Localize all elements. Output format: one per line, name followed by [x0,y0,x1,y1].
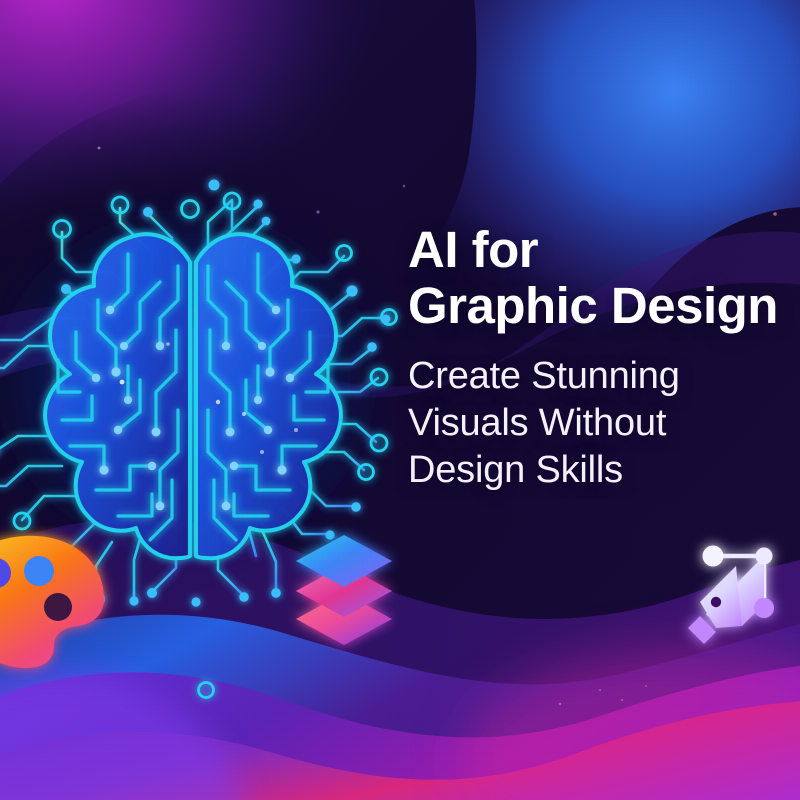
banner-canvas: AI for Graphic Design Create Stunning Vi… [0,0,800,800]
brain-speckles [120,342,298,454]
pen-anchor-bottom [754,598,774,618]
headline-line-1: AI for [408,222,800,278]
layers-middle [296,565,392,617]
subhead-line-2: Visuals Without [408,400,800,447]
brain-body [45,234,341,560]
pen-nib-body [706,558,762,626]
glow-bottom-right-pink [460,650,800,800]
wave-pink [0,700,800,800]
pen-nib-shape [700,566,742,628]
text-block: AI for Graphic Design Create Stunning Vi… [408,222,800,495]
page-title: AI for Graphic Design [408,222,800,334]
blob-bottom-left-violet [0,672,242,800]
headline-line-2: Graphic Design [408,278,800,334]
pen-anchor-corner [756,548,773,565]
brain-node-dots [92,306,294,511]
pen-tool-icon [688,546,774,645]
wave-blue-purple [0,614,800,800]
pen-nib-upper [706,556,764,626]
page-subtitle: Create Stunning Visuals Without Design S… [408,353,800,494]
subhead-line-3: Design Skills [408,447,800,494]
circuit-ring-nodes [14,193,397,698]
brain-internal-traces [58,254,328,540]
layers-icon [296,535,392,645]
palette-thumb-hole [44,593,72,621]
brain-glow [0,187,401,577]
palette-blob-blue [24,556,54,586]
circuit-traces [0,186,386,686]
pen-nib-tip [688,616,716,644]
wave-deep [0,519,800,800]
layers-bottom [296,593,392,645]
pen-anchor-left [703,546,724,567]
pen-nib-hole [711,597,721,607]
palette-blob-indigo [0,558,11,588]
palette-icon [0,536,104,668]
layers-top [296,535,392,587]
pen-handle-path [718,556,764,604]
blob-top-left [0,0,471,360]
wave-purple [0,662,800,800]
subhead-line-1: Create Stunning [408,353,800,400]
circuit-dot-nodes [0,180,390,607]
